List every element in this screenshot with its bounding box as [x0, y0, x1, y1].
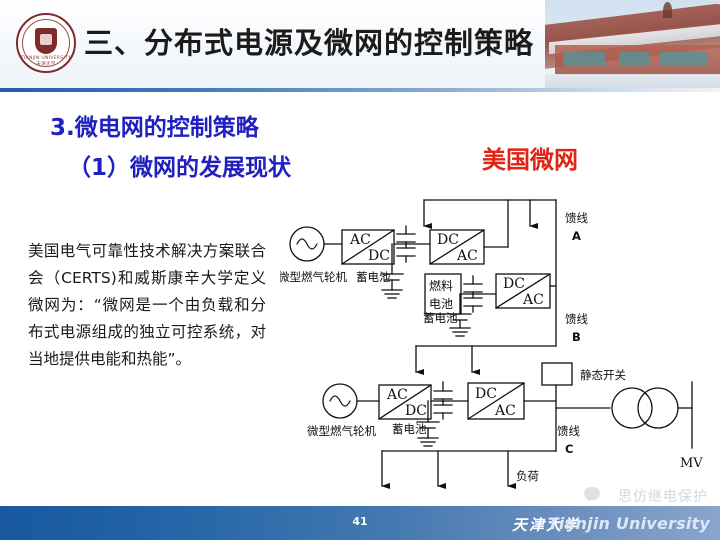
seal-shield-icon: [35, 28, 57, 54]
converter-label: DC: [405, 403, 427, 419]
transformer-winding-2: [638, 388, 678, 428]
static-switch-box: [542, 363, 572, 385]
university-seal-logo: TIANJIN UNIVERSITY 天津大学: [16, 13, 76, 73]
converter-label: AC: [522, 292, 544, 308]
page-title: 三、分布式电源及微网的控制策略: [84, 20, 554, 62]
label-battery-1: 蓄电池: [356, 270, 391, 284]
slide: TIANJIN UNIVERSITY 天津大学 三、分布式电源及微网的控制策略 …: [0, 0, 720, 540]
label-fuel-cell-line2: 电池: [429, 297, 453, 311]
building-window: [659, 52, 707, 66]
watermark-text: 思仿继电保护: [618, 486, 708, 506]
label-fuel-cell-line1: 燃料: [429, 278, 453, 293]
label-feeder-a-id: A: [572, 229, 581, 243]
converter-label: AC: [494, 403, 516, 419]
slide-header: TIANJIN UNIVERSITY 天津大学 三、分布式电源及微网的控制策略: [0, 0, 720, 88]
label-feeder-a: 馈线: [565, 211, 588, 225]
label-micro-turbine-1: 微型燃气轮机: [280, 270, 347, 284]
transformer-winding-1: [612, 388, 652, 428]
header-divider: [0, 88, 720, 92]
body-paragraph: 美国电气可靠性技术解决方案联合会（CERTS)和威斯康辛大学定义微网为：“微网是…: [28, 238, 266, 373]
converter-label: DC: [503, 276, 525, 292]
label-static-switch: 静态开关: [580, 368, 626, 382]
diagram-title-red: 美国微网: [482, 140, 578, 175]
label-feeder-b: 馈线: [565, 312, 588, 326]
section-heading-sub: （1）微网的发展现状: [68, 148, 291, 182]
converter-label: DC: [368, 248, 390, 264]
building-window: [563, 52, 605, 66]
label-battery-2: 蓄电池: [423, 311, 458, 325]
footer-university-en: Tianjin University: [548, 514, 710, 533]
section-heading-main: 3.微电网的控制策略: [50, 108, 259, 142]
microgrid-schematic: AC DC DC AC DC AC AC DC DC AC 微型燃气轮机 蓄电池…: [280, 186, 720, 498]
label-feeder-c: 馈线: [557, 424, 580, 438]
slide-footer: 41 天津大学 Tianjin University: [0, 506, 720, 540]
label-micro-turbine-2: 微型燃气轮机: [307, 424, 376, 438]
seal-text: TIANJIN UNIVERSITY 天津大学: [18, 56, 74, 67]
building-base: [545, 74, 720, 88]
label-load: 负荷: [516, 469, 539, 483]
converter-label: DC: [437, 232, 459, 248]
converter-label: DC: [475, 386, 497, 402]
label-feeder-c-id: C: [565, 442, 573, 456]
converter-label: AC: [386, 387, 408, 403]
converter-label: AC: [456, 248, 478, 264]
building-window: [619, 52, 649, 66]
label-battery-3: 蓄电池: [392, 422, 427, 436]
converter-label: AC: [349, 232, 371, 248]
label-mv: MV: [680, 456, 703, 471]
building-finial: [663, 2, 672, 18]
header-building-photo: [545, 0, 720, 88]
wechat-icon: [584, 487, 600, 500]
label-feeder-b-id: B: [572, 330, 581, 344]
